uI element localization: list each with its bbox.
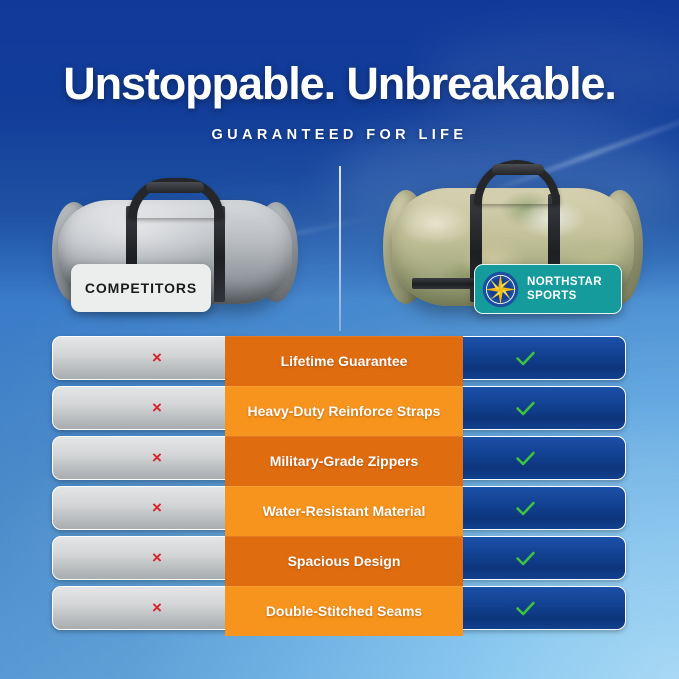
check-icon [516,501,535,516]
page-subtitle: GUARANTEED FOR LIFE [0,127,679,143]
feature-label: Spacious Design [225,536,463,586]
cross-icon: × [152,399,162,416]
feature-label: Double-Stitched Seams [225,586,463,636]
check-icon [516,601,535,616]
cross-icon: × [152,499,162,516]
feature-label: Heavy-Duty Reinforce Straps [225,386,463,436]
cross-icon: × [152,599,162,616]
cross-icon: × [152,549,162,566]
comparison-table: × × × × × × Lifetime Guarantee Heavy-Dut… [0,336,679,636]
check-icon [516,401,535,416]
feature-label: Water-Resistant Material [225,486,463,536]
brand-label-text: NORTHSTAR SPORTS [527,275,602,303]
page-title: Unstoppable. Unbreakable. [0,58,679,110]
feature-label: Military-Grade Zippers [225,436,463,486]
brand-name-line1: NORTHSTAR [527,275,602,289]
brand-label-badge: NORTHSTAR SPORTS [474,264,622,314]
feature-label-band: Lifetime Guarantee Heavy-Duty Reinforce … [225,336,463,636]
check-icon [516,351,535,366]
brand-name-line2: SPORTS [527,289,602,303]
check-icon [516,451,535,466]
competitor-label-badge: COMPETITORS [71,264,211,312]
bag-handle-grip [492,164,544,175]
cross-icon: × [152,449,162,466]
bag-handle-grip [146,182,204,193]
bag-strap [214,206,225,302]
promo-comparison-graphic: Unstoppable. Unbreakable. GUARANTEED FOR… [0,0,679,679]
check-icon [516,551,535,566]
vertical-divider [339,166,341,331]
cross-icon: × [152,349,162,366]
compass-star-logo [482,271,519,308]
feature-label: Lifetime Guarantee [225,336,463,386]
